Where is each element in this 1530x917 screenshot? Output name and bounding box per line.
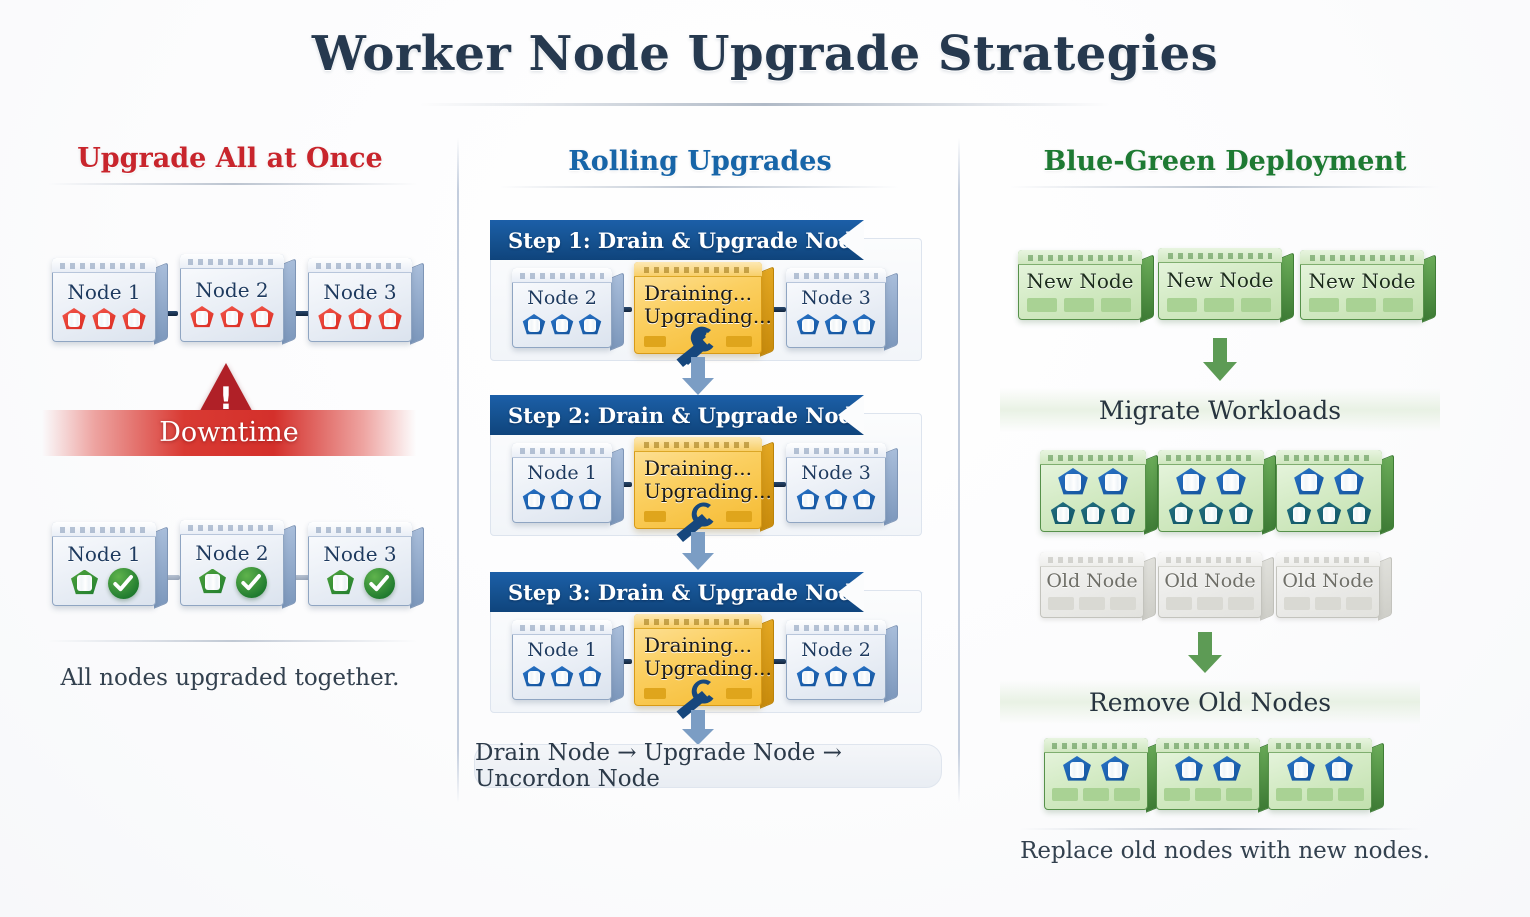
pod-icon — [1293, 468, 1326, 498]
node-vent-strip — [1276, 450, 1382, 465]
node-box[interactable]: Node 2 — [786, 620, 886, 700]
node-label: Node 2 — [180, 278, 284, 302]
flow-arrow-down — [682, 532, 714, 570]
node-vent-strip — [634, 614, 762, 629]
new-node-box[interactable]: New Node — [1300, 250, 1424, 320]
node-slot — [726, 511, 752, 522]
node-vent-strip — [1018, 250, 1142, 265]
pod-icon — [550, 314, 575, 337]
node-side-panel — [1280, 252, 1294, 323]
pod-icon — [1174, 756, 1205, 784]
node-box[interactable]: Node 1 — [512, 620, 612, 700]
pod-group — [786, 666, 886, 689]
node-slot — [1346, 597, 1372, 610]
node-vent-strip — [512, 268, 612, 283]
node-box[interactable]: Node 2 — [180, 254, 284, 342]
caption-rule-1 — [48, 640, 418, 642]
pod-icon — [824, 314, 849, 337]
pod-icon — [249, 306, 275, 330]
node-slot — [1064, 298, 1094, 312]
step-banner-label: Step 2: Drain & Upgrade Node 2 — [490, 403, 888, 428]
node-slot — [1166, 597, 1192, 610]
node-box[interactable]: Node 2 — [180, 520, 284, 606]
ribbon-notch — [838, 572, 864, 612]
pod-group-top — [1044, 756, 1148, 784]
node-side-panel — [1142, 556, 1156, 621]
node-side-panel — [610, 624, 624, 703]
node-side-panel — [884, 272, 898, 351]
migrated-node-box[interactable] — [1040, 450, 1146, 532]
node-side-panel — [410, 262, 424, 345]
node-vent-strip — [1158, 552, 1262, 567]
column-header-rule-1 — [48, 183, 418, 185]
pod-icon — [1110, 502, 1137, 527]
pod-icon — [1324, 756, 1355, 784]
node-slot — [644, 511, 666, 522]
node-slot — [1226, 788, 1252, 801]
node-slot — [1276, 788, 1302, 801]
column-header-upgrade-all: Upgrade All at Once — [20, 143, 440, 174]
node-label: Old Node — [1158, 570, 1262, 592]
pod-icon — [377, 308, 403, 332]
pod-icon — [1286, 756, 1317, 784]
pod-icon — [326, 570, 356, 598]
ribbon-notch — [838, 220, 864, 260]
pod-group — [786, 489, 886, 512]
pod-icon — [852, 489, 877, 512]
node-slot — [1048, 597, 1074, 610]
pod-icon — [522, 489, 547, 512]
pod-group-top — [1276, 468, 1382, 498]
node-slot — [1309, 298, 1339, 312]
pod-icon — [70, 570, 100, 598]
node-side-panel — [282, 524, 296, 609]
final-node-box[interactable] — [1156, 738, 1260, 810]
pod-group-bottom — [1040, 502, 1146, 527]
step-banner-2[interactable]: Step 2: Drain & Upgrade Node 2 — [490, 395, 864, 435]
node-side-panel — [1378, 556, 1392, 621]
node-slot — [1027, 298, 1057, 312]
node-box[interactable]: Node 2 — [512, 268, 612, 348]
node-box[interactable]: Node 3 — [308, 258, 412, 342]
node-side-panel — [1422, 254, 1436, 323]
node-slot — [1315, 597, 1341, 610]
pod-icon — [1057, 468, 1090, 498]
title-divider — [420, 103, 1110, 106]
node-vent-strip — [180, 254, 284, 269]
node-label: Node 3 — [308, 542, 412, 566]
pod-icon — [796, 314, 821, 337]
node-label: Old Node — [1276, 570, 1380, 592]
node-status-line-1: Draining... — [634, 633, 762, 657]
pod-group-top — [1040, 468, 1146, 498]
rolling-flow-text: Drain Node → Upgrade Node → Uncordon Nod… — [475, 740, 941, 792]
node-side-panel — [884, 624, 898, 703]
node-vent-strip — [1276, 552, 1380, 567]
pod-group — [308, 308, 412, 332]
pod-icon — [1333, 468, 1366, 498]
node-label: New Node — [1300, 269, 1424, 293]
pod-icon — [61, 308, 87, 332]
node-box-upgrading[interactable]: Draining... Upgrading... — [634, 614, 762, 706]
node-vent-strip — [512, 443, 612, 458]
pod-icon — [1286, 502, 1313, 527]
node-slot — [1241, 298, 1271, 312]
node-slot — [1110, 597, 1136, 610]
pod-icon — [1097, 468, 1130, 498]
pod-icon — [121, 308, 147, 332]
pod-group-bottom — [1158, 502, 1264, 527]
pod-icon — [219, 306, 245, 330]
pod-icon — [824, 666, 849, 689]
diagram-canvas: Worker Node Upgrade Strategies Upgrade A… — [0, 0, 1530, 917]
node-box[interactable]: Node 1 — [52, 522, 156, 606]
pod-icon — [317, 308, 343, 332]
node-vent-strip — [1156, 738, 1260, 753]
pod-icon — [578, 314, 603, 337]
remove-old-nodes-label: Remove Old Nodes — [1000, 688, 1420, 717]
node-side-panel — [610, 272, 624, 351]
node-label: Node 1 — [52, 280, 156, 304]
pod-group — [52, 568, 156, 599]
check-circle-icon — [108, 568, 139, 599]
pod-icon — [1050, 502, 1077, 527]
node-slot — [1338, 788, 1364, 801]
pod-group — [180, 567, 284, 598]
node-side-panel — [1370, 742, 1384, 813]
pod-icon — [824, 489, 849, 512]
column-header-rule-3 — [1010, 186, 1440, 188]
node-label: Old Node — [1040, 570, 1144, 592]
pod-group-bottom — [1276, 502, 1382, 527]
node-vent-strip — [512, 620, 612, 635]
node-side-panel — [282, 258, 296, 345]
node-vent-strip — [1268, 738, 1372, 753]
node-slot — [1164, 788, 1190, 801]
node-slot — [1284, 597, 1310, 610]
node-vent-strip — [1300, 250, 1424, 265]
migrate-workloads-label: Migrate Workloads — [1000, 396, 1440, 425]
migrate-arrow-down — [1203, 338, 1237, 382]
node-label: Node 3 — [308, 280, 412, 304]
check-circle-icon — [236, 567, 267, 598]
step-banner-3[interactable]: Step 3: Drain & Upgrade Node 3 — [490, 572, 864, 612]
pod-icon — [852, 314, 877, 337]
pod-icon — [1168, 502, 1195, 527]
pod-icon — [550, 489, 575, 512]
node-side-panel — [610, 447, 624, 526]
node-label: New Node — [1018, 269, 1142, 293]
step-banner-1[interactable]: Step 1: Drain & Upgrade Node 1 — [490, 220, 864, 260]
pod-icon — [1100, 756, 1131, 784]
node-vent-strip — [1040, 552, 1144, 567]
ribbon-notch — [838, 395, 864, 435]
node-box-upgrading[interactable]: Draining... Upgrading... — [634, 262, 762, 354]
node-label: Node 2 — [786, 639, 886, 661]
pod-icon — [1175, 468, 1208, 498]
migrated-node-box[interactable] — [1276, 450, 1382, 532]
column-header-rolling: Rolling Upgrades — [480, 146, 920, 177]
pod-icon — [1346, 502, 1373, 527]
node-slot — [726, 336, 752, 347]
node-side-panel — [1144, 454, 1158, 535]
node-vent-strip — [308, 258, 412, 273]
pod-icon — [852, 666, 877, 689]
node-slot — [1083, 788, 1109, 801]
node-side-panel — [154, 526, 168, 609]
node-vent-strip — [786, 443, 886, 458]
final-node-box[interactable] — [1044, 738, 1148, 810]
old-node-box[interactable]: Old Node — [1276, 552, 1380, 618]
node-slot — [1307, 788, 1333, 801]
pod-icon — [522, 314, 547, 337]
node-slot — [644, 336, 666, 347]
flow-arrow-down — [682, 357, 714, 395]
pod-group — [52, 308, 156, 332]
pod-group-top — [1158, 468, 1264, 498]
node-vent-strip — [786, 620, 886, 635]
node-status-line-1: Draining... — [634, 281, 762, 305]
node-label: Node 2 — [512, 287, 612, 309]
old-node-box[interactable]: Old Node — [1158, 552, 1262, 618]
step-banner-label: Step 3: Drain & Upgrade Node 3 — [490, 580, 888, 605]
new-node-box[interactable]: New Node — [1158, 248, 1282, 320]
node-slot — [1197, 597, 1223, 610]
final-node-box[interactable] — [1268, 738, 1372, 810]
pod-icon — [347, 308, 373, 332]
pod-group-top — [1156, 756, 1260, 784]
pod-icon — [1080, 502, 1107, 527]
pod-icon — [1228, 502, 1255, 527]
caption-upgrade-all: All nodes upgraded together. — [20, 665, 440, 691]
rolling-flow-footer: Drain Node → Upgrade Node → Uncordon Nod… — [474, 744, 942, 788]
node-box[interactable]: Node 1 — [52, 258, 156, 342]
page-title: Worker Node Upgrade Strategies — [0, 26, 1530, 82]
pod-icon — [1215, 468, 1248, 498]
node-side-panel — [1262, 454, 1276, 535]
column-divider-2 — [958, 138, 960, 803]
node-vent-strip — [634, 262, 762, 277]
pod-icon — [1062, 756, 1093, 784]
pod-group — [308, 568, 412, 599]
check-circle-icon — [364, 568, 395, 599]
pod-group — [786, 314, 886, 337]
pod-icon — [1198, 502, 1225, 527]
node-vent-strip — [1044, 738, 1148, 753]
pod-group — [512, 666, 612, 689]
migrated-node-box[interactable] — [1158, 450, 1264, 532]
node-vent-strip — [52, 522, 156, 537]
node-status-line-1: Draining... — [634, 456, 762, 480]
column-divider-1 — [457, 138, 459, 803]
node-side-panel — [1140, 254, 1154, 323]
old-node-box[interactable]: Old Node — [1040, 552, 1144, 618]
remove-arrow-down — [1188, 632, 1222, 674]
node-vent-strip — [786, 268, 886, 283]
pod-icon — [91, 308, 117, 332]
node-vent-strip — [1040, 450, 1146, 465]
node-side-panel — [1380, 454, 1394, 535]
node-box[interactable]: Node 3 — [786, 268, 886, 348]
node-side-panel — [884, 447, 898, 526]
pod-icon — [189, 306, 215, 330]
pod-icon — [522, 666, 547, 689]
node-vent-strip — [52, 258, 156, 273]
node-vent-strip — [1158, 450, 1264, 465]
node-box[interactable]: Node 3 — [308, 522, 412, 606]
pod-icon — [1212, 756, 1243, 784]
node-box-upgrading[interactable]: Draining... Upgrading... — [634, 437, 762, 529]
pod-group — [180, 306, 284, 330]
node-slot — [1346, 298, 1376, 312]
node-side-panel — [1260, 556, 1274, 621]
node-label: Node 1 — [512, 639, 612, 661]
node-label: Node 3 — [786, 462, 886, 484]
pod-icon — [578, 489, 603, 512]
column-header-rule-2 — [500, 186, 900, 188]
caption-blue-green: Replace old nodes with new nodes. — [985, 838, 1465, 864]
node-slot — [1195, 788, 1221, 801]
column-header-blue-green: Blue-Green Deployment — [985, 146, 1465, 177]
node-slot — [1052, 788, 1078, 801]
downtime-label: Downtime — [42, 417, 416, 448]
node-label: Node 3 — [786, 287, 886, 309]
node-side-panel — [410, 526, 424, 609]
node-label: New Node — [1158, 268, 1282, 292]
node-side-panel — [154, 262, 168, 345]
node-label: Node 1 — [512, 462, 612, 484]
node-box[interactable]: Node 1 — [512, 443, 612, 523]
pod-group — [512, 314, 612, 337]
node-slot — [1114, 788, 1140, 801]
new-node-box[interactable]: New Node — [1018, 250, 1142, 320]
pod-icon — [796, 666, 821, 689]
step-banner-label: Step 1: Drain & Upgrade Node 1 — [490, 228, 888, 253]
node-slot — [1079, 597, 1105, 610]
pod-icon — [198, 569, 228, 597]
node-slot — [726, 688, 752, 699]
node-vent-strip — [308, 522, 412, 537]
node-label: Node 1 — [52, 542, 156, 566]
pod-icon — [1316, 502, 1343, 527]
node-slot — [1228, 597, 1254, 610]
node-box[interactable]: Node 3 — [786, 443, 886, 523]
node-slot — [1204, 298, 1234, 312]
caption-rule-3 — [1020, 828, 1420, 830]
node-vent-strip — [180, 520, 284, 535]
node-slot — [644, 688, 666, 699]
pod-icon — [550, 666, 575, 689]
node-slot — [1383, 298, 1413, 312]
node-vent-strip — [634, 437, 762, 452]
pod-group-top — [1268, 756, 1372, 784]
node-slot — [1101, 298, 1131, 312]
node-vent-strip — [1158, 248, 1282, 263]
pod-group — [512, 489, 612, 512]
node-label: Node 2 — [180, 541, 284, 565]
node-slot — [1167, 298, 1197, 312]
pod-icon — [796, 489, 821, 512]
pod-icon — [578, 666, 603, 689]
